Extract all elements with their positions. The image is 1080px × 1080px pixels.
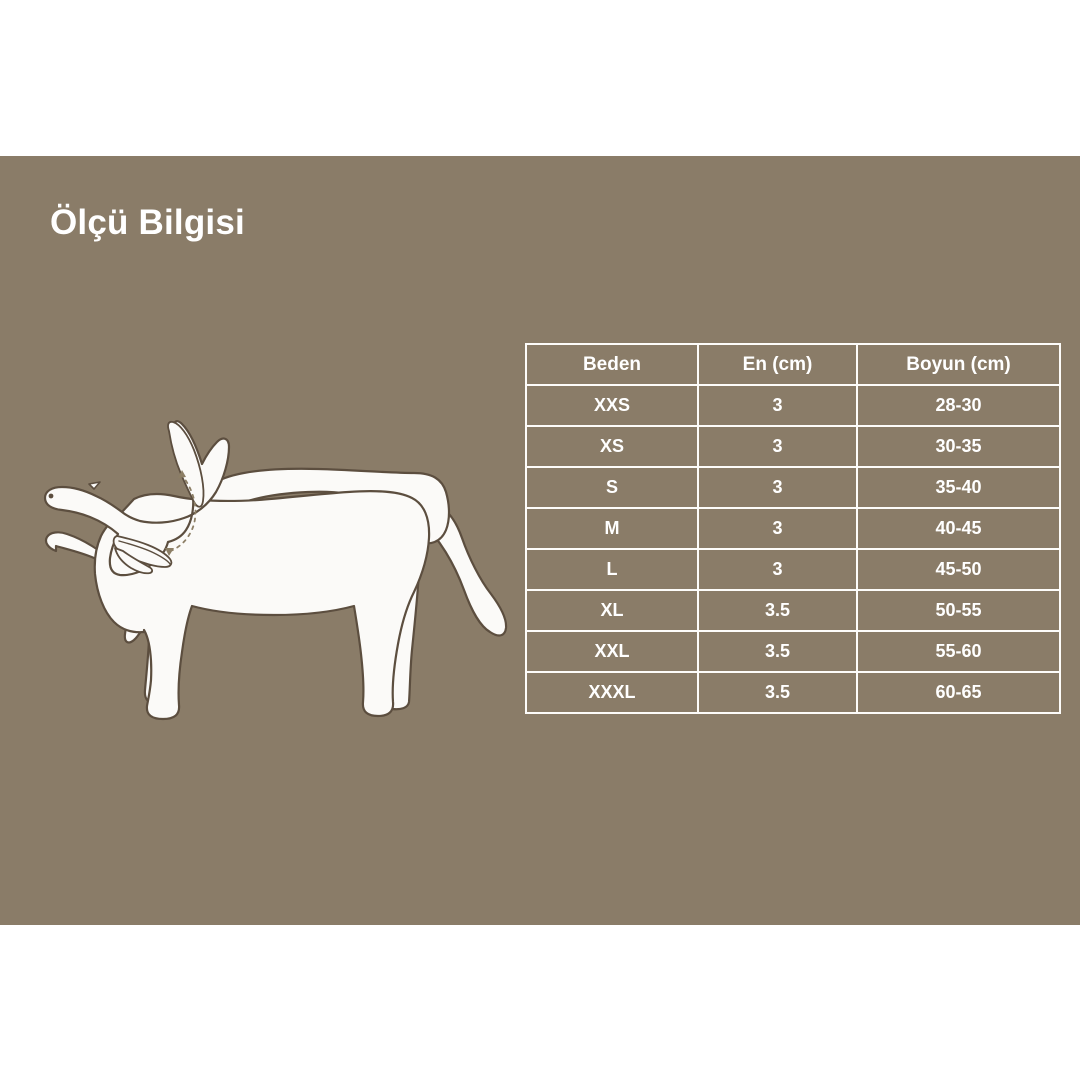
cell-beden: M xyxy=(526,508,698,549)
cell-en: 3 xyxy=(698,549,857,590)
cell-en: 3 xyxy=(698,467,857,508)
cell-beden: XXS xyxy=(526,385,698,426)
cell-en: 3 xyxy=(698,385,857,426)
cell-en: 3.5 xyxy=(698,590,857,631)
table-row: XXL 3.5 55-60 xyxy=(526,631,1060,672)
column-header-beden: Beden xyxy=(526,344,698,385)
dog-ear-inner xyxy=(168,422,203,507)
table-body: XXS 3 28-30 XS 3 30-35 S 3 35-40 M 3 40-… xyxy=(526,385,1060,713)
cell-boyun: 55-60 xyxy=(857,631,1060,672)
cell-beden: XXL xyxy=(526,631,698,672)
table-row: XXS 3 28-30 xyxy=(526,385,1060,426)
table-row: XS 3 30-35 xyxy=(526,426,1060,467)
table-header-row: Beden En (cm) Boyun (cm) xyxy=(526,344,1060,385)
table-row: XL 3.5 50-55 xyxy=(526,590,1060,631)
cell-beden: XXXL xyxy=(526,672,698,713)
page-title: Ölçü Bilgisi xyxy=(50,203,245,243)
cell-en: 3 xyxy=(698,426,857,467)
size-table: Beden En (cm) Boyun (cm) XXS 3 28-30 XS … xyxy=(525,343,1061,714)
cell-boyun: 28-30 xyxy=(857,385,1060,426)
dog-eye xyxy=(89,482,100,489)
table-row: S 3 35-40 xyxy=(526,467,1060,508)
cell-boyun: 30-35 xyxy=(857,426,1060,467)
table-row: XXXL 3.5 60-65 xyxy=(526,672,1060,713)
table-row: M 3 40-45 xyxy=(526,508,1060,549)
cell-en: 3 xyxy=(698,508,857,549)
cell-boyun: 35-40 xyxy=(857,467,1060,508)
cell-boyun: 50-55 xyxy=(857,590,1060,631)
column-header-boyun: Boyun (cm) xyxy=(857,344,1060,385)
size-chart-page: Ölçü Bilgisi xyxy=(0,0,1080,1080)
dog-side-view-illustration xyxy=(18,378,518,738)
cell-boyun: 40-45 xyxy=(857,508,1060,549)
table-row: L 3 45-50 xyxy=(526,549,1060,590)
cell-beden: S xyxy=(526,467,698,508)
cell-boyun: 60-65 xyxy=(857,672,1060,713)
cell-beden: XS xyxy=(526,426,698,467)
dog-nose xyxy=(49,494,54,499)
cell-boyun: 45-50 xyxy=(857,549,1060,590)
column-header-en: En (cm) xyxy=(698,344,857,385)
cell-en: 3.5 xyxy=(698,672,857,713)
cell-beden: XL xyxy=(526,590,698,631)
cell-en: 3.5 xyxy=(698,631,857,672)
cell-beden: L xyxy=(526,549,698,590)
